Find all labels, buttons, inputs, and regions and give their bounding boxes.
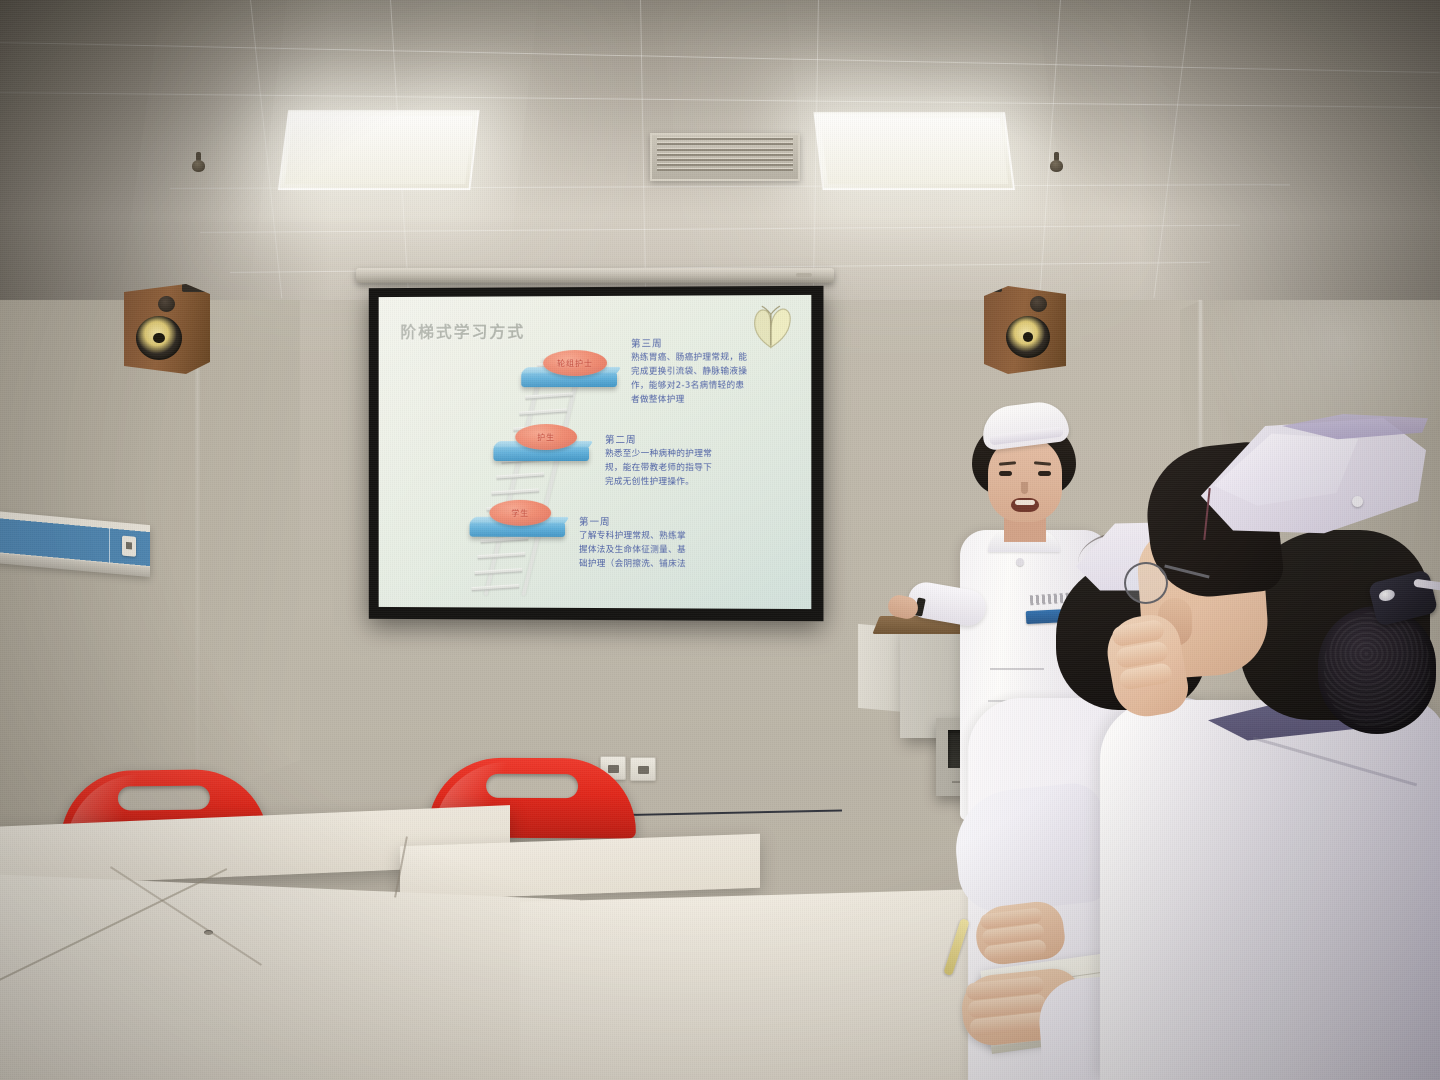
step-pill-2-label: 护生 bbox=[537, 432, 555, 443]
seated-a-hair-bun bbox=[1318, 606, 1436, 734]
wall-outlet-icon[interactable] bbox=[122, 536, 136, 557]
eyeglasses-icon bbox=[1124, 562, 1196, 606]
ceiling-light-panel-right bbox=[813, 112, 1015, 190]
step-heading-week2: 第二周 bbox=[605, 432, 715, 446]
step-pill-1: 学生 bbox=[489, 500, 551, 526]
step-text-week1: 第一周 了解专科护理常规、熟练掌握体法及生命体征测量、基础护理（会阴擦洗、铺床法 bbox=[579, 514, 687, 572]
step-pill-2: 护生 bbox=[515, 424, 577, 450]
slide-surface: 阶梯式学习方式 bbox=[379, 295, 812, 609]
wall-speaker-right bbox=[984, 286, 1066, 374]
air-vent-icon bbox=[650, 133, 800, 181]
projection-screen: 阶梯式学习方式 bbox=[369, 286, 824, 621]
step-text-week2: 第二周 熟悉至少一种病种的护理常规，能在带教老师的指导下完成无创性护理操作。 bbox=[605, 432, 715, 490]
step-text-week3: 第三周 熟练胃癌、肠癌护理常规，能完成更换引流袋、静脉输液操作，能够对2-3名病… bbox=[631, 335, 752, 407]
step-body-week2: 熟悉至少一种病种的护理常规，能在带教老师的指导下完成无创性护理操作。 bbox=[605, 448, 715, 490]
conference-table-front bbox=[0, 872, 580, 1080]
seated-nurse-foreground bbox=[1100, 400, 1440, 1080]
podium-side-panel bbox=[858, 624, 906, 712]
step-body-week1: 了解专科护理常规、熟练掌握体法及生命体征测量、基础护理（会阴擦洗、铺床法 bbox=[579, 530, 687, 572]
step-heading-week3: 第三周 bbox=[631, 335, 752, 349]
step-pill-1-label: 学生 bbox=[511, 507, 529, 518]
step-pill-3-label: 轮组护士 bbox=[557, 358, 593, 369]
butterfly-icon bbox=[745, 303, 798, 353]
seated-a-uniform bbox=[1100, 700, 1440, 1080]
seated-a-cap-button-icon bbox=[1352, 496, 1363, 507]
table-fastener-icon bbox=[204, 930, 213, 935]
wall-outlet-right[interactable] bbox=[630, 757, 656, 781]
sprinkler-head-icon bbox=[1050, 152, 1063, 174]
sprinkler-head-icon bbox=[192, 152, 205, 174]
projection-screen-housing bbox=[356, 268, 834, 283]
step-body-week3: 熟练胃癌、肠癌护理常规，能完成更换引流袋、静脉输液操作，能够对2-3名病情轻的患… bbox=[631, 351, 752, 407]
wall-speaker-left bbox=[124, 284, 210, 374]
meeting-room-photo: 阶梯式学习方式 bbox=[0, 0, 1440, 1080]
ceiling-light-panel-left bbox=[278, 110, 480, 190]
screen-pull-knob[interactable] bbox=[796, 273, 812, 277]
step-pill-3: 轮组护士 bbox=[543, 350, 607, 376]
step-heading-week1: 第一周 bbox=[579, 514, 687, 528]
